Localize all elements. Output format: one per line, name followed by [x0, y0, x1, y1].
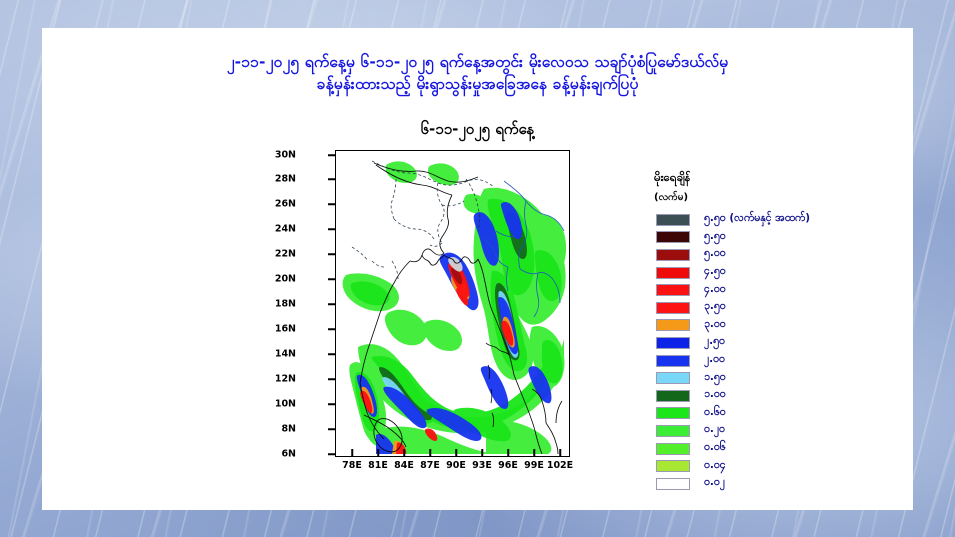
ytick-label: 8N	[281, 424, 296, 435]
xtick-mark	[351, 449, 353, 456]
legend-label: ၄.၀၀	[704, 283, 726, 298]
ytick-mark	[328, 378, 335, 380]
xtick-mark	[507, 449, 509, 456]
ytick-label: 24N	[275, 224, 296, 235]
xtick-mark	[429, 449, 431, 456]
legend-label: ၅.၅၀ (လက်မနှင့် အထက်)	[704, 212, 810, 227]
legend-label: ၄.၅၀	[704, 265, 726, 280]
legend-color-swatch	[656, 231, 690, 243]
ytick-mark	[328, 453, 335, 455]
legend-color-swatch	[656, 478, 690, 490]
legend-item: ၀.၆၀	[652, 405, 902, 423]
legend-label: ၀.၀၂	[704, 476, 725, 491]
ytick-label: 6N	[281, 449, 296, 460]
legend-color-swatch	[656, 284, 690, 296]
legend-label: ၀.၀၆	[704, 441, 726, 456]
legend-color-swatch	[656, 249, 690, 261]
xtick-label: 84E	[394, 460, 414, 471]
ytick-mark	[328, 353, 335, 355]
legend-label: ၁.၅၀	[704, 371, 726, 386]
legend-item: ၀.၂၀	[652, 422, 902, 440]
ytick-label: 28N	[275, 174, 296, 185]
map-frame	[335, 150, 570, 457]
legend-label: ၅.၅၀	[704, 230, 726, 245]
legend-item: ၄.၅၀	[652, 264, 902, 282]
legend-label: ၂.၅၀	[704, 335, 725, 350]
ytick-label: 20N	[275, 274, 296, 285]
ytick-label: 12N	[275, 374, 296, 385]
legend-item: ၅.၅၀	[652, 229, 902, 247]
xtick-label: 99E	[524, 460, 544, 471]
ytick-mark	[328, 328, 335, 330]
ytick-label: 30N	[275, 150, 296, 161]
rainfall-legend: မိုးရေချိန် (လက်မ) ၅.၅၀ (လက်မနှင့် အထက်)…	[652, 170, 902, 493]
legend-item: ၃.၅၀	[652, 299, 902, 317]
legend-item: ၀.၀၆	[652, 440, 902, 458]
xtick-label: 90E	[446, 460, 466, 471]
ytick-mark	[328, 228, 335, 230]
xtick-mark	[455, 449, 457, 456]
ytick-mark	[328, 253, 335, 255]
legend-rows: ၅.၅၀ (လက်မနှင့် အထက်)၅.၅၀၅.၀၀၄.၅၀၄.၀၀၃.၅…	[652, 211, 902, 493]
legend-label: ၃.၀၀	[704, 318, 726, 333]
legend-item: ၂.၅၀	[652, 334, 902, 352]
xtick-mark	[403, 449, 405, 456]
legend-item: ၄.၀၀	[652, 281, 902, 299]
ytick-label: 10N	[275, 399, 296, 410]
ytick-mark	[328, 278, 335, 280]
legend-item: ၅.၀၀	[652, 246, 902, 264]
ytick-mark	[328, 203, 335, 205]
legend-color-swatch	[656, 302, 690, 314]
legend-color-swatch	[656, 443, 690, 455]
legend-label: ၀.၂၀	[704, 423, 725, 438]
legend-label: ၁.၀၀	[704, 388, 726, 403]
ytick-mark	[328, 303, 335, 305]
title-line-2: ခန့်မှန်းထားသည့် မိုးရွာသွန်းမှုအခြေအနေ …	[42, 74, 913, 96]
legend-unit: (လက်မ)	[654, 190, 902, 205]
legend-color-swatch	[656, 267, 690, 279]
xtick-mark	[559, 449, 561, 456]
legend-item: ၃.၀၀	[652, 317, 902, 335]
ytick-mark	[328, 178, 335, 180]
ytick-label: 26N	[275, 199, 296, 210]
ytick-label: 14N	[275, 349, 296, 360]
xtick-label: 96E	[498, 460, 518, 471]
title-line-1: ၂-၁၁-၂၀၂၅ ရက်နေ့မှ ၆-၁၁-၂၀၂၅ ရက်နေ့အတွင်…	[42, 52, 913, 74]
ytick-mark	[328, 403, 335, 405]
ytick-mark	[328, 428, 335, 430]
legend-color-swatch	[656, 460, 690, 472]
xtick-label: 93E	[472, 460, 492, 471]
ytick-mark	[328, 154, 335, 156]
slide-card: ၂-၁၁-၂၀၂၅ ရက်နေ့မှ ၆-၁၁-၂၀၂၅ ရက်နေ့အတွင်…	[42, 28, 913, 510]
legend-color-swatch	[656, 425, 690, 437]
legend-color-swatch	[656, 337, 690, 349]
legend-item: ၀.၀၂	[652, 475, 902, 493]
legend-color-swatch	[656, 390, 690, 402]
xtick-label: 81E	[368, 460, 388, 471]
legend-item: ၂.၀၀	[652, 352, 902, 370]
legend-item: ၀.၀၄	[652, 457, 902, 475]
legend-label: ၀.၀၄	[704, 459, 726, 474]
xtick-mark	[481, 449, 483, 456]
legend-title: မိုးရေချိန်	[654, 170, 902, 187]
map-canvas	[336, 151, 569, 456]
xtick-label: 78E	[342, 460, 362, 471]
xtick-label: 87E	[420, 460, 440, 471]
legend-color-swatch	[656, 355, 690, 367]
legend-color-swatch	[656, 372, 690, 384]
legend-color-swatch	[656, 407, 690, 419]
legend-label: ၂.၀၀	[704, 353, 725, 368]
legend-label: ၅.၀၀	[704, 247, 726, 262]
forecast-date-subtitle: ၆-၁၁-၂၀၂၅ ရက်နေ့	[42, 120, 913, 142]
page-title: ၂-၁၁-၂၀၂၅ ရက်နေ့မှ ၆-၁၁-၂၀၂၅ ရက်နေ့အတွင်…	[42, 52, 913, 95]
rainfall-map-plot: 30N 28N 26N 24N 22N 20N 18N 16N 14N 12N …	[290, 146, 580, 471]
legend-color-swatch	[656, 214, 690, 226]
ytick-label: 18N	[275, 299, 296, 310]
xtick-mark	[377, 449, 379, 456]
legend-item: ၁.၀၀	[652, 387, 902, 405]
legend-item: ၁.၅၀	[652, 369, 902, 387]
rainfall-heatmap-svg	[336, 151, 569, 456]
ytick-label: 16N	[275, 324, 296, 335]
legend-color-swatch	[656, 319, 690, 331]
ytick-label: 22N	[275, 249, 296, 260]
xtick-label: 102E	[547, 460, 573, 471]
xtick-mark	[533, 449, 535, 456]
legend-item: ၅.၅၀ (လက်မနှင့် အထက်)	[652, 211, 902, 229]
legend-label: ၀.၆၀	[704, 406, 726, 421]
legend-label: ၃.၅၀	[704, 300, 726, 315]
